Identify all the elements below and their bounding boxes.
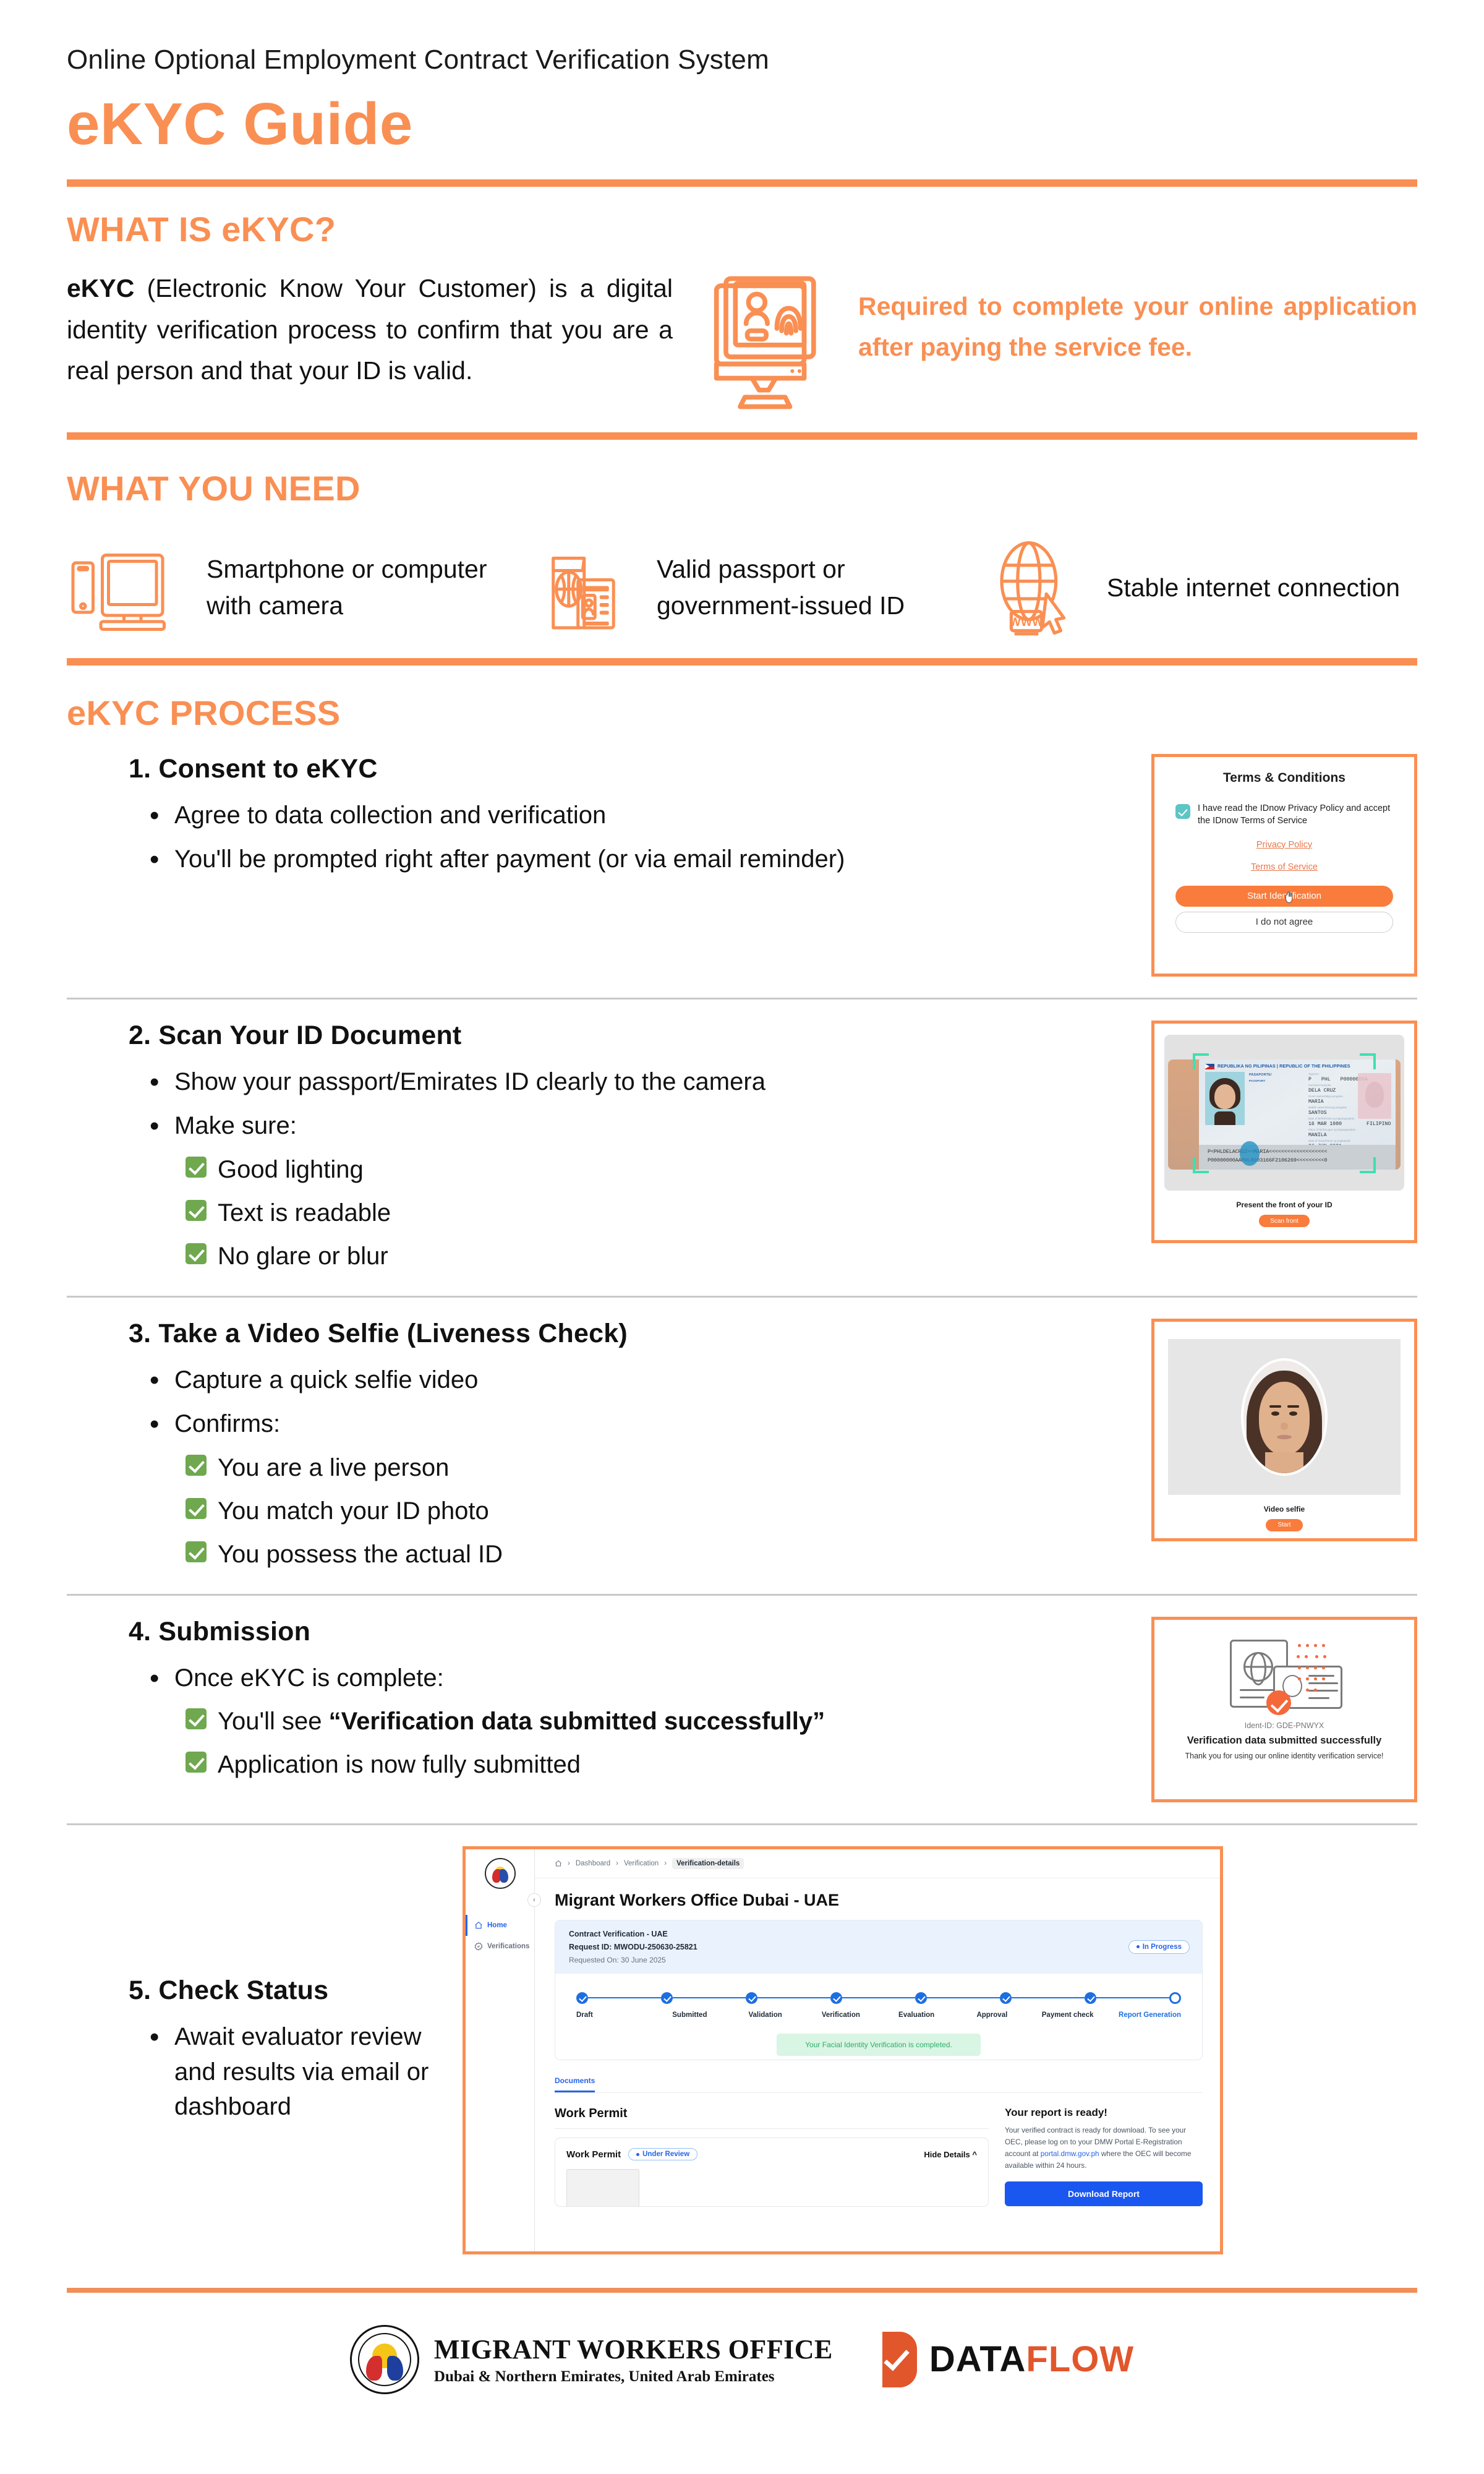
document-card-work-permit: Work Permit Under Review Hide Details ^ [555, 2138, 989, 2207]
stepper-label-draft: Draft [576, 2011, 652, 2019]
green-check-icon [185, 1498, 207, 1519]
step-2-check-3: No glare or blur [185, 1238, 1133, 1275]
green-check-icon [185, 1541, 207, 1562]
stepper-label-payment-check: Payment check [1030, 2011, 1106, 2019]
step-3-check-3: You possess the actual ID [185, 1536, 1133, 1573]
dmw-seal-icon [485, 1858, 516, 1889]
page-header: Online Optional Employment Contract Veri… [67, 0, 1417, 187]
success-check-icon [1266, 1690, 1291, 1715]
step-2-check-2: Text is readable [185, 1194, 1133, 1231]
report-body: Your verified contract is ready for down… [1005, 2125, 1203, 2172]
green-check-icon [185, 1455, 207, 1476]
step-3-bullet-1: Capture a quick selfie video [174, 1363, 1133, 1398]
step-5-screenshot: Home Verifications › [463, 1846, 1223, 2254]
stepper-label-validation: Validation [728, 2011, 803, 2019]
verification-request-id: Request ID: MWODU-250630-25821 [569, 1943, 1188, 1951]
need-item-passport: Valid passport or government-issued ID [517, 541, 967, 634]
document-thumbnail[interactable] [566, 2169, 639, 2207]
stepper-node-payment-check [1085, 1992, 1096, 2004]
status-badge: In Progress [1128, 1940, 1190, 1954]
documents-column: Work Permit Work Permit Under Review Hid… [555, 2107, 989, 2207]
dmw-seal-icon [350, 2325, 419, 2394]
section-what-you-need: WHAT YOU NEED Smartphone or computer wit… [67, 440, 1417, 666]
step-4-check-2: Application is now fully submitted [185, 1746, 1133, 1783]
stepper-node-approval [1000, 1992, 1012, 2004]
step-2-screenshot: REPUBLIKA NG PILIPINAS | REPUBLIC OF THE… [1151, 1021, 1417, 1243]
scan-corner-bottom-right [1360, 1157, 1376, 1173]
step-2-check-1: Good lighting [185, 1151, 1133, 1188]
passport-pob-label: Place of birth/Lugar ng kapanganakan [1308, 1128, 1396, 1132]
step-1-screenshot: Terms & Conditions I have read the IDnow… [1151, 754, 1417, 977]
scan-front-button[interactable]: Scan front [1259, 1215, 1310, 1227]
mwo-title: MIGRANT WORKERS OFFICE [434, 2334, 833, 2365]
tab-documents[interactable]: Documents [555, 2076, 595, 2092]
terms-heading: Terms & Conditions [1175, 771, 1393, 785]
infographic-page: Online Optional Employment Contract Veri… [0, 0, 1484, 2474]
id-fingerprint-monitor-icon [697, 268, 840, 414]
section-what-is-ekyc: WHAT IS eKYC? eKYC (Electronic Know Your… [67, 187, 1417, 440]
dashboard-page-title-text: Migrant Workers Office Dubai - UAE [555, 1891, 839, 1909]
report-heading: Your report is ready! [1005, 2107, 1203, 2119]
scan-corner-bottom-left [1193, 1157, 1209, 1173]
section-heading-what-you-need: WHAT YOU NEED [67, 468, 1417, 508]
passport-nationality: FILIPINO [1367, 1121, 1391, 1128]
step-5-bullet-1: Await evaluator review and results via e… [174, 2019, 444, 2125]
breadcrumb: › Dashboard › Verification › Verificatio… [535, 1858, 1220, 1878]
status-badge-label: In Progress [1143, 1943, 1182, 1951]
id-scan-caption: Present the front of your ID [1164, 1201, 1404, 1209]
process-step-4: 4. Submission Once eKYC is complete: You… [67, 1596, 1417, 1823]
stepper-label-verification: Verification [803, 2011, 879, 2019]
phone-laptop-icon [67, 544, 197, 631]
terms-of-service-link[interactable]: Terms of Service [1175, 862, 1393, 872]
breadcrumb-verification-details: Verification-details [672, 1858, 744, 1869]
passport-photo [1205, 1072, 1245, 1125]
verification-type: Contract Verification - UAE [569, 1930, 1188, 1938]
step-2-bullet-2: Make sure: [174, 1108, 1133, 1144]
dataflow-word-b: FLOW [1026, 2339, 1134, 2379]
stepper-label-evaluation: Evaluation [879, 2011, 954, 2019]
process-step-5: 5. Check Status Await evaluator review a… [67, 1825, 1417, 2275]
need-item-device-label: Smartphone or computer with camera [197, 551, 517, 625]
home-icon[interactable] [555, 1860, 562, 1867]
passport-mrz-line-1: P<PHLDELACRUZ<<MARIA<<<<<<<<<<<<<<<<<<< [1208, 1148, 1396, 1156]
need-item-internet: WWW Stable internet connection [967, 538, 1417, 637]
process-step-2: 2. Scan Your ID Document Show your passp… [67, 999, 1417, 1296]
page-subtitle: Online Optional Employment Contract Veri… [67, 0, 1417, 75]
section-divider-2 [67, 658, 1417, 666]
collapse-sidebar-button[interactable]: ‹ [527, 1893, 541, 1907]
what-is-body-rest: (Electronic Know Your Customer) is a dig… [67, 274, 673, 385]
stepper-label-report-generation: Report Generation [1106, 2011, 1181, 2019]
verification-success-icon [1171, 1636, 1398, 1718]
submitted-subtitle: Thank you for using our online identity … [1171, 1750, 1398, 1761]
step-3-check-2: You match your ID photo [185, 1492, 1133, 1530]
documents-tabbar: Documents [555, 2076, 1203, 2093]
step-3-check-1-label: You are a live person [218, 1449, 449, 1486]
what-is-note: Required to complete your online applica… [840, 268, 1417, 367]
green-check-icon [185, 1752, 207, 1773]
dashboard-main: › Dashboard › Verification › Verificatio… [535, 1849, 1220, 2251]
chevron-up-icon: ^ [972, 2150, 977, 2159]
selfie-start-button[interactable]: Start [1266, 1519, 1303, 1531]
stepper-node-draft [576, 1992, 588, 2004]
step-4-title: 4. Submission [129, 1617, 1133, 1647]
sidebar-item-verifications-label: Verifications [487, 1943, 529, 1950]
face-oval-guide [1241, 1358, 1328, 1476]
stepper-node-verification [830, 1992, 842, 2004]
privacy-policy-link[interactable]: Privacy Policy [1175, 840, 1393, 850]
facial-verification-notice: Your Facial Identity Verification is com… [777, 2034, 981, 2056]
step-3-check-3-label: You possess the actual ID [218, 1536, 503, 1573]
step-4-check-1-bold: “Verification data submitted successfull… [329, 1708, 825, 1735]
scan-corner-top-left [1193, 1053, 1209, 1069]
dmw-portal-link[interactable]: portal.dmw.gov.ph [1041, 2149, 1099, 2158]
ident-id: Ident-ID: GDE-PNWYX [1171, 1721, 1398, 1730]
sidebar-item-home[interactable]: Home [466, 1915, 534, 1936]
step-3-bullet-2: Confirms: [174, 1406, 1133, 1442]
document-card-title: Work Permit [566, 2149, 621, 2160]
document-status-label: Under Review [642, 2151, 689, 2158]
hide-details-label: Hide Details [924, 2150, 970, 2159]
documents-heading: Work Permit [555, 2107, 989, 2121]
need-item-internet-label: Stable internet connection [1097, 570, 1400, 606]
green-check-icon [185, 1708, 207, 1729]
step-2-check-3-label: No glare or blur [218, 1238, 388, 1275]
passport-id-icon [517, 541, 647, 634]
terms-checkbox-label: I have read the IDnow Privacy Policy and… [1198, 803, 1393, 827]
green-check-icon [185, 1243, 207, 1264]
stepper-node-report-generation [1169, 1992, 1181, 2004]
selfie-camera-view [1168, 1339, 1401, 1495]
step-4-check-1-prefix: You'll see [218, 1708, 329, 1735]
step-4-check-2-label: Application is now fully submitted [218, 1746, 581, 1783]
section-divider-1 [67, 432, 1417, 440]
hide-details-toggle[interactable]: Hide Details ^ [924, 2150, 977, 2159]
green-check-icon [185, 1200, 207, 1221]
step-4-bullet-1: Once eKYC is complete: [174, 1661, 1133, 1696]
step-3-screenshot: Video selfie Start [1151, 1319, 1417, 1541]
selfie-caption: Video selfie [1168, 1505, 1401, 1513]
download-report-button[interactable]: Download Report [1005, 2181, 1203, 2206]
dataflow-wordmark: DATAFLOW [929, 2339, 1134, 2380]
sidebar-item-home-label: Home [487, 1922, 507, 1929]
stepper-label-approval: Approval [954, 2011, 1030, 2019]
step-2-bullet-1: Show your passport/Emirates ID clearly t… [174, 1064, 1133, 1100]
scan-corner-top-right [1360, 1053, 1376, 1069]
section-heading-what-is: WHAT IS eKYC? [67, 209, 1417, 249]
passport-country: PHL [1321, 1077, 1331, 1083]
start-identification-button[interactable]: Start Identification [1175, 886, 1393, 907]
step-2-check-2-label: Text is readable [218, 1194, 391, 1231]
decorative-dots [1292, 1641, 1331, 1697]
what-is-body-bold: eKYC [67, 274, 134, 302]
passport-card: REPUBLIKA NG PILIPINAS | REPUBLIC OF THE… [1199, 1059, 1396, 1170]
step-1-bullet-2: You'll be prompted right after payment (… [174, 842, 1133, 877]
dashboard-sidebar: Home Verifications [466, 1849, 535, 2251]
breadcrumb-verification[interactable]: Verification [624, 1860, 659, 1867]
breadcrumb-dashboard[interactable]: Dashboard [576, 1860, 610, 1867]
step-3-check-1: You are a live person [185, 1449, 1133, 1486]
home-icon [474, 1921, 483, 1930]
step-1-title: 1. Consent to eKYC [129, 754, 1133, 784]
globe-www-icon: WWW [967, 538, 1097, 637]
step-2-title: 2. Scan Your ID Document [129, 1021, 1133, 1051]
step-3-check-2-label: You match your ID photo [218, 1492, 489, 1530]
stepper-label-submitted: Submitted [652, 2011, 727, 2019]
header-divider [67, 179, 1417, 187]
process-step-1: 1. Consent to eKYC Agree to data collect… [67, 733, 1417, 998]
verification-summary-panel: Contract Verification - UAE Request ID: … [555, 1920, 1203, 2060]
sidebar-item-verifications[interactable]: Verifications [466, 1936, 534, 1957]
step-5-title: 5. Check Status [129, 1975, 444, 2006]
section-heading-process: eKYC PROCESS [67, 693, 1417, 733]
page-footer: MIGRANT WORKERS OFFICE Dubai & Northern … [67, 2293, 1417, 2394]
submitted-title: Verification data submitted successfully [1171, 1735, 1398, 1747]
document-status-badge: Under Review [628, 2148, 697, 2160]
dataflow-check-icon [882, 2332, 917, 2387]
mwo-subtitle: Dubai & Northern Emirates, United Arab E… [434, 2368, 833, 2386]
breadcrumb-chevron-icon: › [664, 1860, 667, 1867]
passport-type: P [1308, 1077, 1311, 1083]
terms-checkbox[interactable] [1175, 804, 1190, 819]
stepper-node-validation [746, 1992, 757, 2004]
do-not-agree-button[interactable]: I do not agree [1175, 912, 1393, 933]
footer-divider [67, 2288, 1417, 2293]
mouse-pointer-icon [1284, 891, 1295, 904]
step-4-check-1: You'll see “Verification data submitted … [185, 1703, 1133, 1740]
step-4-screenshot: Ident-ID: GDE-PNWYX Verification data su… [1151, 1617, 1417, 1802]
step-2-check-1-label: Good lighting [218, 1151, 364, 1188]
passport-issue-label: Date of issue/Petsa ng pagkaloob [1308, 1139, 1396, 1144]
svg-text:WWW: WWW [1010, 615, 1044, 629]
breadcrumb-chevron-icon: › [568, 1860, 570, 1867]
step-1-bullet-1: Agree to data collection and verificatio… [174, 798, 1133, 833]
verification-requested-on: Requested On: 30 June 2025 [569, 1956, 1188, 1964]
dashboard-page-title: ‹ Migrant Workers Office Dubai - UAE [535, 1878, 1220, 1910]
step-3-title: 3. Take a Video Selfie (Liveness Check) [129, 1319, 1133, 1349]
process-step-3: 3. Take a Video Selfie (Liveness Check) … [67, 1298, 1417, 1594]
breadcrumb-chevron-icon: › [616, 1860, 618, 1867]
section-ekyc-process: eKYC PROCESS 1. Consent to eKYC Agree to… [67, 666, 1417, 2292]
page-title: eKYC Guide [67, 90, 1417, 158]
badge-check-icon [474, 1942, 483, 1951]
report-panel: Your report is ready! Your verified cont… [1005, 2107, 1203, 2207]
stepper-node-evaluation [915, 1992, 927, 2004]
progress-stepper: Draft Submitted Validation Verification … [555, 1974, 1202, 2060]
passport-doc-word: PASAPORTE/ [1249, 1072, 1308, 1078]
dataflow-word-a: DATA [929, 2339, 1026, 2379]
what-is-body: eKYC (Electronic Know Your Customer) is … [67, 268, 691, 391]
green-check-icon [185, 1157, 207, 1178]
need-item-device: Smartphone or computer with camera [67, 544, 517, 631]
passport-ghost-photo [1358, 1073, 1391, 1119]
need-item-passport-label: Valid passport or government-issued ID [647, 551, 967, 625]
dataflow-logo: DATAFLOW [882, 2332, 1134, 2387]
mwo-logo: MIGRANT WORKERS OFFICE Dubai & Northern … [350, 2325, 833, 2394]
id-camera-view: REPUBLIKA NG PILIPINAS | REPUBLIC OF THE… [1164, 1035, 1404, 1191]
passport-dob: 16 MAR 1980 [1308, 1121, 1342, 1128]
stepper-node-submitted [661, 1992, 673, 2004]
passport-pob: MANILA [1308, 1132, 1396, 1139]
passport-doc-word2: PASSPORT [1249, 1079, 1308, 1084]
